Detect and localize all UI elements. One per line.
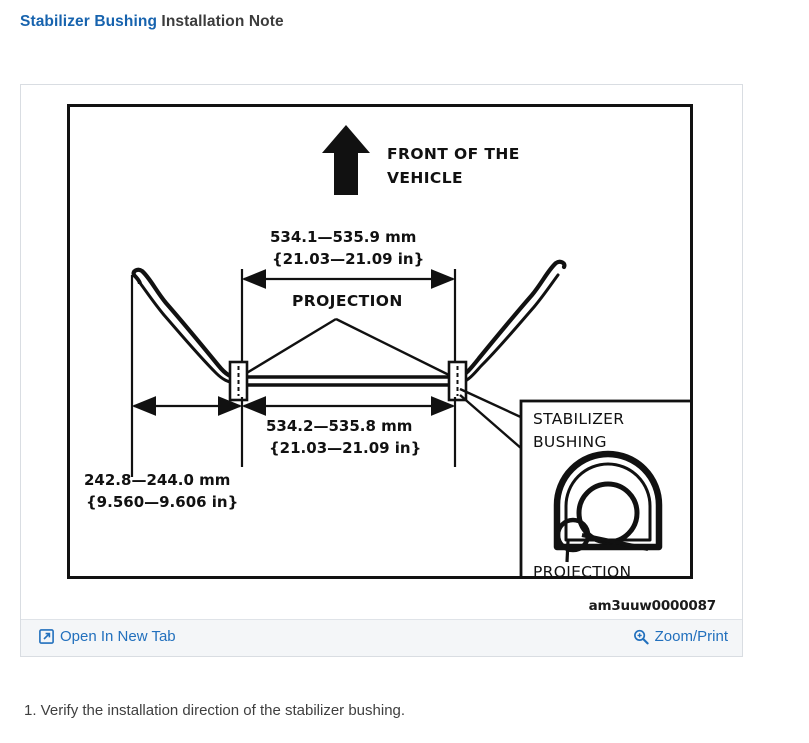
figure-panel: FRONT OF THE VEHICLE 534.1—535.9 mm {21.…	[20, 84, 743, 657]
open-in-new-tab-button[interactable]: Open In New Tab	[39, 628, 176, 645]
callout-projection-label: PROJECTION	[533, 563, 631, 576]
top-dimension-line2: {21.03—21.09 in}	[272, 250, 424, 268]
step-instruction: 1. Verify the installation direction of …	[24, 702, 405, 719]
front-of-vehicle-arrow-icon	[322, 125, 370, 195]
middle-dimension-line1: 534.2—535.8 mm	[266, 417, 412, 435]
left-dimension-line	[132, 275, 240, 477]
callout-title-line1: STABILIZER	[533, 410, 624, 428]
stabilizer-bar-left-arm	[134, 270, 238, 383]
page-title-rest: Installation Note	[157, 13, 284, 30]
page-title: Stabilizer Bushing Installation Note	[20, 13, 284, 31]
zoom-print-button[interactable]: Zoom/Print	[633, 628, 728, 645]
stabilizer-bar-center-section	[236, 377, 460, 385]
image-id-caption: am3uuw0000087	[589, 598, 716, 614]
callout-title-line2: BUSHING	[533, 433, 607, 451]
zoom-print-label: Zoom/Print	[655, 628, 728, 645]
diagram-frame: FRONT OF THE VEHICLE 534.1—535.9 mm {21.…	[67, 104, 693, 579]
page-title-link[interactable]: Stabilizer Bushing	[20, 13, 157, 30]
projection-center-label: PROJECTION	[292, 292, 403, 310]
bushing-block-right	[449, 362, 466, 400]
left-dimension-line2: {9.560—9.606 in}	[86, 493, 238, 511]
zoom-in-magnifier-icon	[633, 629, 649, 645]
figure-toolbar: Open In New Tab Zoom/Print	[21, 619, 742, 656]
left-dimension-line1: 242.8—244.0 mm	[84, 471, 230, 489]
front-of-vehicle-label-line1: FRONT OF THE	[387, 145, 520, 163]
stabilizer-bushing-callout: STABILIZER BUSHING PROJECTION	[521, 401, 690, 576]
stabilizer-bar-right-arm	[458, 262, 564, 383]
front-of-vehicle-label-line2: VEHICLE	[387, 169, 463, 187]
middle-dimension-line2: {21.03—21.09 in}	[269, 439, 421, 457]
open-in-new-tab-label: Open In New Tab	[60, 628, 176, 645]
stabilizer-bar-diagram: FRONT OF THE VEHICLE 534.1—535.9 mm {21.…	[70, 107, 690, 576]
external-link-icon	[39, 629, 54, 644]
top-dimension-line1: 534.1—535.9 mm	[270, 228, 416, 246]
figure-image-area[interactable]: FRONT OF THE VEHICLE 534.1—535.9 mm {21.…	[21, 85, 742, 619]
projection-leader-lines	[240, 319, 453, 377]
bushing-block-left	[230, 362, 247, 400]
callout-leader-line	[460, 389, 525, 449]
